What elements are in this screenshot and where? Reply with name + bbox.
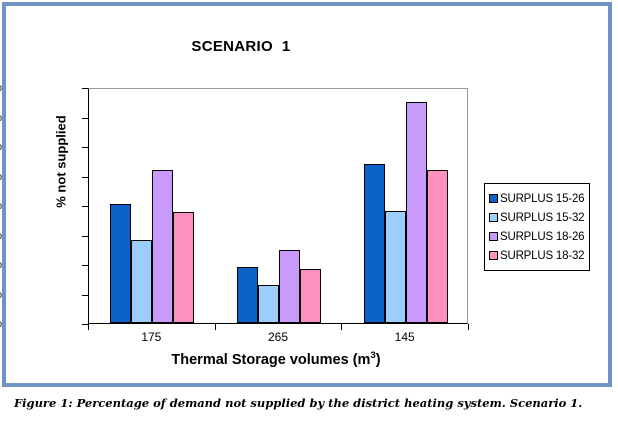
x-axis-title: Thermal Storage volumes (m3) xyxy=(66,350,486,368)
x-tick-mark xyxy=(88,324,89,330)
x-axis-title-base: Thermal Storage volumes (m xyxy=(171,352,370,368)
plot-area xyxy=(88,88,468,324)
bar-group xyxy=(89,89,216,323)
x-tick-mark xyxy=(341,324,342,330)
y-tick-label: 4% xyxy=(0,200,2,212)
y-tick-label: 7% xyxy=(0,112,2,124)
figure-root: SCENARIO 1 % not supplied 0%1%2%3%4%5%6%… xyxy=(0,0,618,438)
bar xyxy=(258,285,279,323)
chart-title: SCENARIO 1 xyxy=(6,38,476,55)
bar xyxy=(385,211,406,323)
legend-swatch-icon xyxy=(489,194,498,203)
legend-swatch-icon xyxy=(489,251,498,260)
y-tick-label: 1% xyxy=(0,289,2,301)
bar xyxy=(279,250,300,323)
bar-group xyxy=(216,89,343,323)
legend-label: SURPLUS 18-32 xyxy=(500,250,584,262)
bar xyxy=(237,267,258,323)
y-tick-label: 2% xyxy=(0,259,2,271)
x-tick-label: 265 xyxy=(248,330,308,344)
legend-label: SURPLUS 18-26 xyxy=(500,231,584,243)
x-tick-label: 145 xyxy=(375,330,435,344)
y-tick-label: 5% xyxy=(0,171,2,183)
bar xyxy=(173,212,194,323)
bar xyxy=(406,102,427,323)
legend-item[interactable]: SURPLUS 18-32 xyxy=(489,246,584,265)
legend-item[interactable]: SURPLUS 15-26 xyxy=(489,189,584,208)
x-tick-mark xyxy=(468,324,469,330)
legend-item[interactable]: SURPLUS 15-32 xyxy=(489,208,584,227)
bar xyxy=(152,170,173,323)
legend-swatch-icon xyxy=(489,232,498,241)
figure-caption: Figure 1: Percentage of demand not suppl… xyxy=(14,396,604,410)
legend-label: SURPLUS 15-32 xyxy=(500,212,584,224)
y-tick-label: 6% xyxy=(0,141,2,153)
bar xyxy=(364,164,385,323)
chart-legend: SURPLUS 15-26SURPLUS 15-32SURPLUS 18-26S… xyxy=(484,183,590,271)
bar xyxy=(131,240,152,323)
y-axis-title: % not supplied xyxy=(54,77,69,247)
y-tick-label: 3% xyxy=(0,230,2,242)
legend-label: SURPLUS 15-26 xyxy=(500,193,584,205)
y-tick-label: 8% xyxy=(0,82,2,94)
y-tick-label: 0% xyxy=(0,318,2,330)
bar xyxy=(110,204,131,323)
x-axis-title-tail: ) xyxy=(376,352,381,368)
bar xyxy=(427,170,448,323)
bars-layer xyxy=(89,89,467,323)
x-tick-label: 175 xyxy=(121,330,181,344)
legend-item[interactable]: SURPLUS 18-26 xyxy=(489,227,584,246)
figure-border-box: SCENARIO 1 % not supplied 0%1%2%3%4%5%6%… xyxy=(2,2,612,387)
x-tick-mark xyxy=(215,324,216,330)
legend-swatch-icon xyxy=(489,213,498,222)
bar-group xyxy=(342,89,469,323)
bar xyxy=(300,269,321,323)
